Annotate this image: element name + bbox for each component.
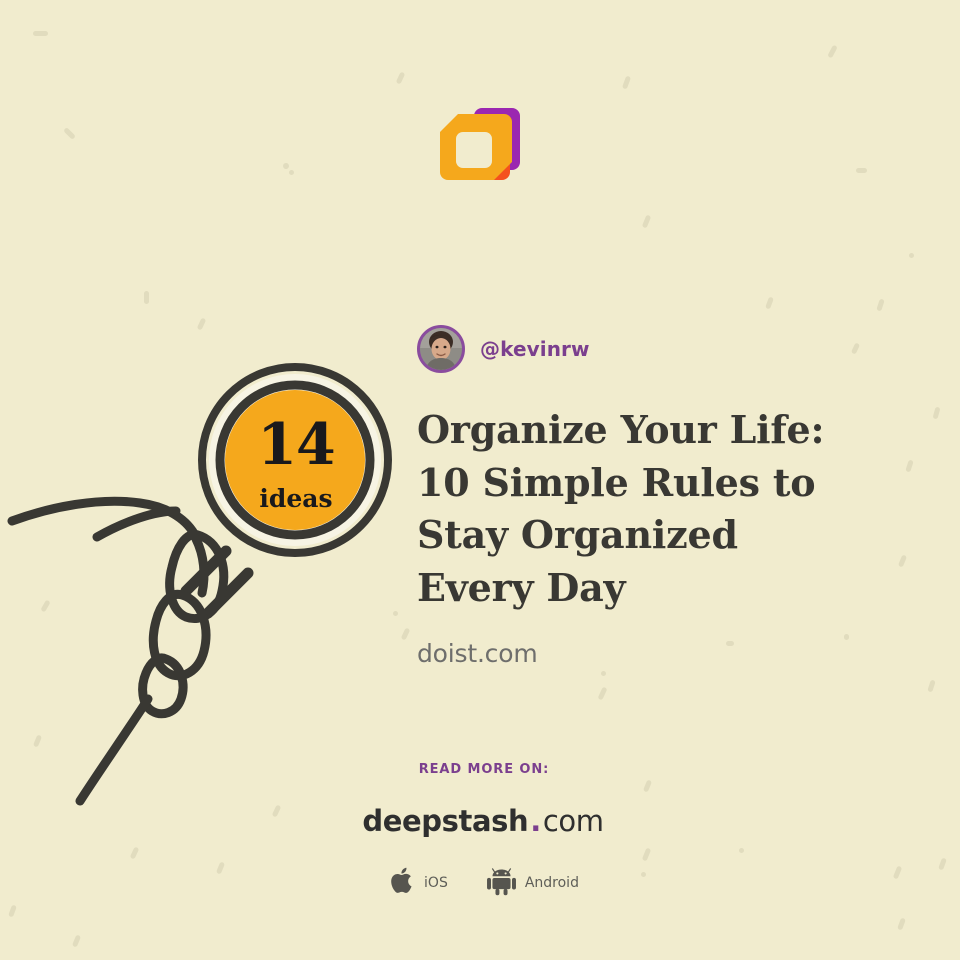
confetti-dash xyxy=(622,76,631,90)
confetti-dash xyxy=(933,407,941,420)
brand-tld: com xyxy=(543,804,604,838)
confetti-dash xyxy=(642,215,652,229)
content-column: @kevinrw Organize Your Life: 10 Simple R… xyxy=(417,322,887,668)
android-store-badge[interactable]: Android xyxy=(486,866,579,901)
share-card: 14 ideas xyxy=(0,0,960,960)
confetti-dash xyxy=(909,253,914,258)
apple-icon xyxy=(391,865,416,901)
confetti-dash xyxy=(33,31,48,36)
confetti-dash xyxy=(765,297,774,310)
logo-inner-cutout xyxy=(456,132,492,168)
article-source: doist.com xyxy=(417,639,887,668)
brand-dot: . xyxy=(528,804,543,838)
confetti-dash xyxy=(897,918,906,931)
hand-line-art xyxy=(12,501,224,801)
ios-store-label: iOS xyxy=(424,875,448,891)
author-avatar[interactable] xyxy=(417,325,465,373)
author-handle[interactable]: @kevinrw xyxy=(480,337,590,361)
confetti-dash xyxy=(282,162,290,170)
confetti-dash xyxy=(905,460,913,473)
android-store-label: Android xyxy=(525,875,579,891)
author-row[interactable]: @kevinrw xyxy=(417,322,887,376)
confetti-dash xyxy=(927,680,935,693)
ios-store-badge[interactable]: iOS xyxy=(391,865,448,901)
confetti-dash xyxy=(898,555,907,568)
confetti-dash xyxy=(876,299,884,312)
deepstash-logo-icon xyxy=(432,100,528,196)
article-title: Organize Your Life: 10 Simple Rules to S… xyxy=(417,404,857,614)
android-icon xyxy=(486,866,517,901)
store-badges: iOS xyxy=(391,865,579,901)
confetti-dash xyxy=(856,168,867,173)
confetti-dash xyxy=(289,170,294,175)
brand-wordmark: deepstash . com xyxy=(362,804,603,838)
footer: READ MORE ON: deepstash . com iOS xyxy=(0,762,960,901)
confetti-dash xyxy=(72,935,81,948)
confetti-dash xyxy=(63,127,76,140)
confetti-dash xyxy=(144,291,149,304)
confetti-dash xyxy=(601,671,606,676)
magnifier-lens-fill xyxy=(225,390,365,530)
read-more-label: READ MORE ON: xyxy=(419,762,550,777)
confetti-dash xyxy=(8,905,17,918)
confetti-dash xyxy=(396,72,406,85)
confetti-dash xyxy=(597,687,607,701)
hand-thumb-lower xyxy=(97,511,176,537)
confetti-dash xyxy=(827,45,838,59)
brand-name: deepstash xyxy=(362,804,528,838)
magnifier-illustration xyxy=(0,355,410,825)
confetti-dash xyxy=(197,318,207,331)
